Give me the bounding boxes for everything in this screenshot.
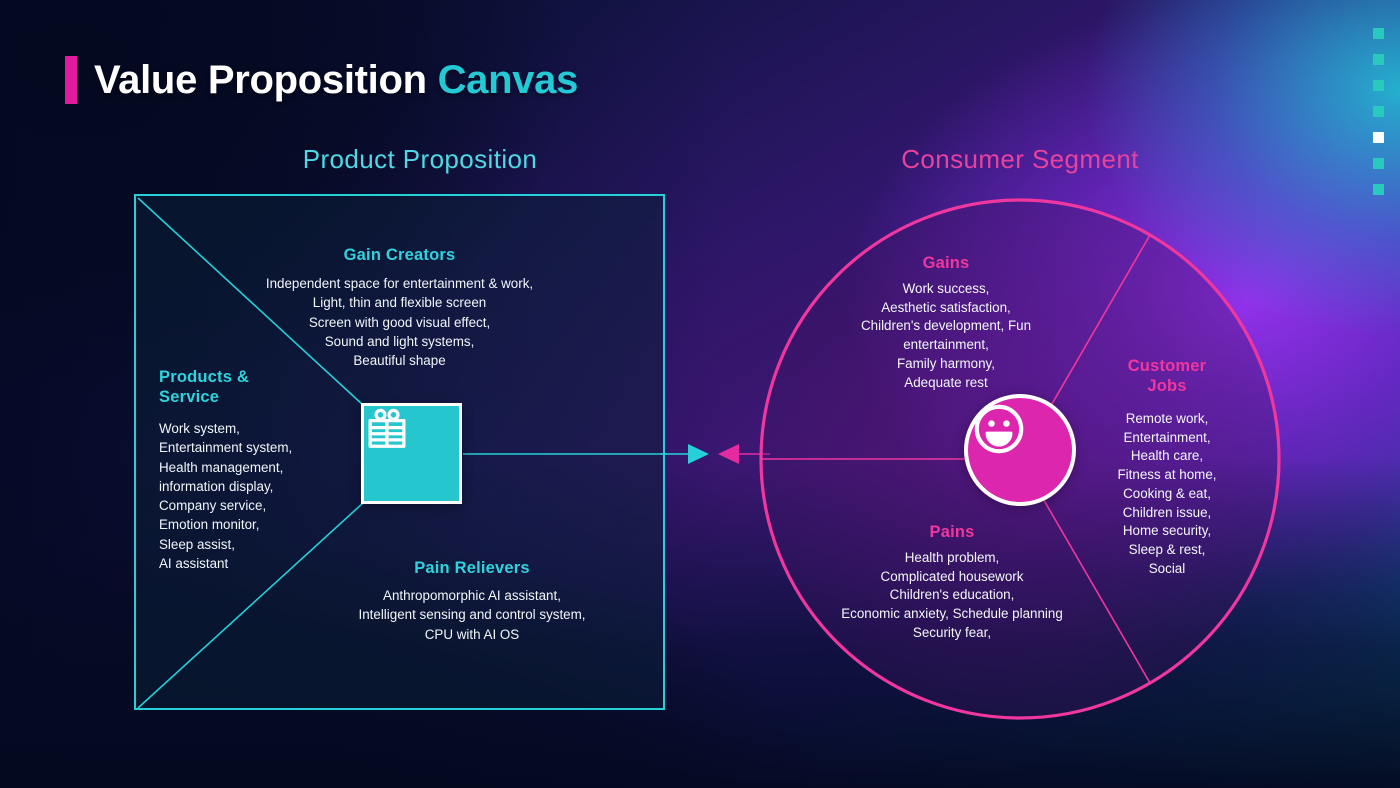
list-item: Work success,	[821, 280, 1071, 299]
list-item: Fitness at home,	[1090, 466, 1245, 485]
list-item: Screen with good visual effect,	[190, 313, 610, 332]
products-service-list: Work system, Entertainment system, Healt…	[159, 419, 292, 573]
list-item: Aesthetic satisfaction,	[821, 299, 1071, 318]
list-item: Work system,	[159, 419, 292, 438]
customer-jobs-list: Remote work, Entertainment, Health care,…	[1090, 410, 1245, 578]
title-text: Value Proposition Canvas	[94, 58, 578, 103]
pains-title: Pains	[929, 523, 974, 542]
pagination-dot[interactable]	[1373, 106, 1384, 117]
pagination-dot[interactable]	[1373, 158, 1384, 169]
arrow-right-icon	[688, 444, 709, 464]
section-heading-product-proposition: Product Proposition	[303, 144, 538, 175]
connector-arrows	[660, 432, 770, 476]
list-item: Family harmony,	[821, 355, 1071, 374]
pain-relievers-list: Anthropomorphic AI assistant, Intelligen…	[307, 586, 637, 644]
page-title: Value Proposition Canvas	[65, 56, 578, 104]
pagination-dots	[1373, 28, 1384, 210]
product-proposition-panel: Gain Creators Independent space for ente…	[134, 194, 665, 710]
list-item: Entertainment system,	[159, 438, 292, 457]
pagination-dot-active[interactable]	[1373, 132, 1384, 143]
section-heading-consumer-segment: Consumer Segment	[901, 144, 1139, 175]
gains-list: Work success, Aesthetic satisfaction, Ch…	[821, 280, 1071, 392]
consumer-center-badge[interactable]	[964, 394, 1076, 506]
gain-creators-title: Gain Creators	[344, 246, 456, 265]
pains-list: Health problem, Complicated housework Ch…	[827, 549, 1077, 643]
gains-title: Gains	[923, 254, 970, 273]
list-item: Home security,	[1090, 522, 1245, 541]
list-item: Adequate rest	[821, 374, 1071, 393]
pagination-dot[interactable]	[1373, 80, 1384, 91]
list-item: Emotion monitor,	[159, 515, 292, 534]
pagination-dot[interactable]	[1373, 54, 1384, 65]
consumer-segment-circle: Gains Work success, Aesthetic satisfacti…	[755, 194, 1285, 724]
smiley-face-icon	[968, 398, 1030, 460]
gain-creators-list: Independent space for entertainment & wo…	[190, 274, 610, 370]
title-accent-bar	[65, 56, 77, 104]
title-main: Value Proposition	[94, 58, 427, 102]
list-item: Sleep assist,	[159, 535, 292, 554]
list-item: Security fear,	[827, 624, 1077, 643]
list-item: Anthropomorphic AI assistant,	[307, 586, 637, 605]
title-highlight: Canvas	[438, 58, 579, 102]
list-item: Economic anxiety, Schedule planning	[827, 605, 1077, 624]
list-item: Children's development, Fun entertainmen…	[821, 317, 1071, 354]
gift-icon	[364, 406, 410, 452]
list-item: Cooking & eat,	[1090, 485, 1245, 504]
product-center-tile[interactable]	[361, 403, 462, 504]
list-item: Sleep & rest,	[1090, 541, 1245, 560]
list-item: Children issue,	[1090, 504, 1245, 523]
products-service-title: Products &Service	[159, 367, 249, 407]
list-item: Health care,	[1090, 447, 1245, 466]
list-item: Intelligent sensing and control system,	[307, 605, 637, 624]
list-item: Entertainment,	[1090, 429, 1245, 448]
pagination-dot[interactable]	[1373, 184, 1384, 195]
customer-jobs-title: CustomerJobs	[1128, 356, 1207, 396]
list-item: Remote work,	[1090, 410, 1245, 429]
pain-relievers-title: Pain Relievers	[414, 559, 530, 578]
list-item: Children's education,	[827, 586, 1077, 605]
list-item: Light, thin and flexible screen	[190, 293, 610, 312]
list-item: Sound and light systems,	[190, 332, 610, 351]
list-item: AI assistant	[159, 554, 292, 573]
arrow-left-icon	[718, 444, 739, 464]
list-item: Independent space for entertainment & wo…	[190, 274, 610, 293]
list-item: information display,	[159, 477, 292, 496]
list-item: CPU with AI OS	[307, 625, 637, 644]
list-item: Complicated housework	[827, 568, 1077, 587]
list-item: Company service,	[159, 496, 292, 515]
pagination-dot[interactable]	[1373, 28, 1384, 39]
list-item: Health management,	[159, 458, 292, 477]
list-item: Beautiful shape	[190, 351, 610, 370]
list-item: Health problem,	[827, 549, 1077, 568]
list-item: Social	[1090, 560, 1245, 579]
